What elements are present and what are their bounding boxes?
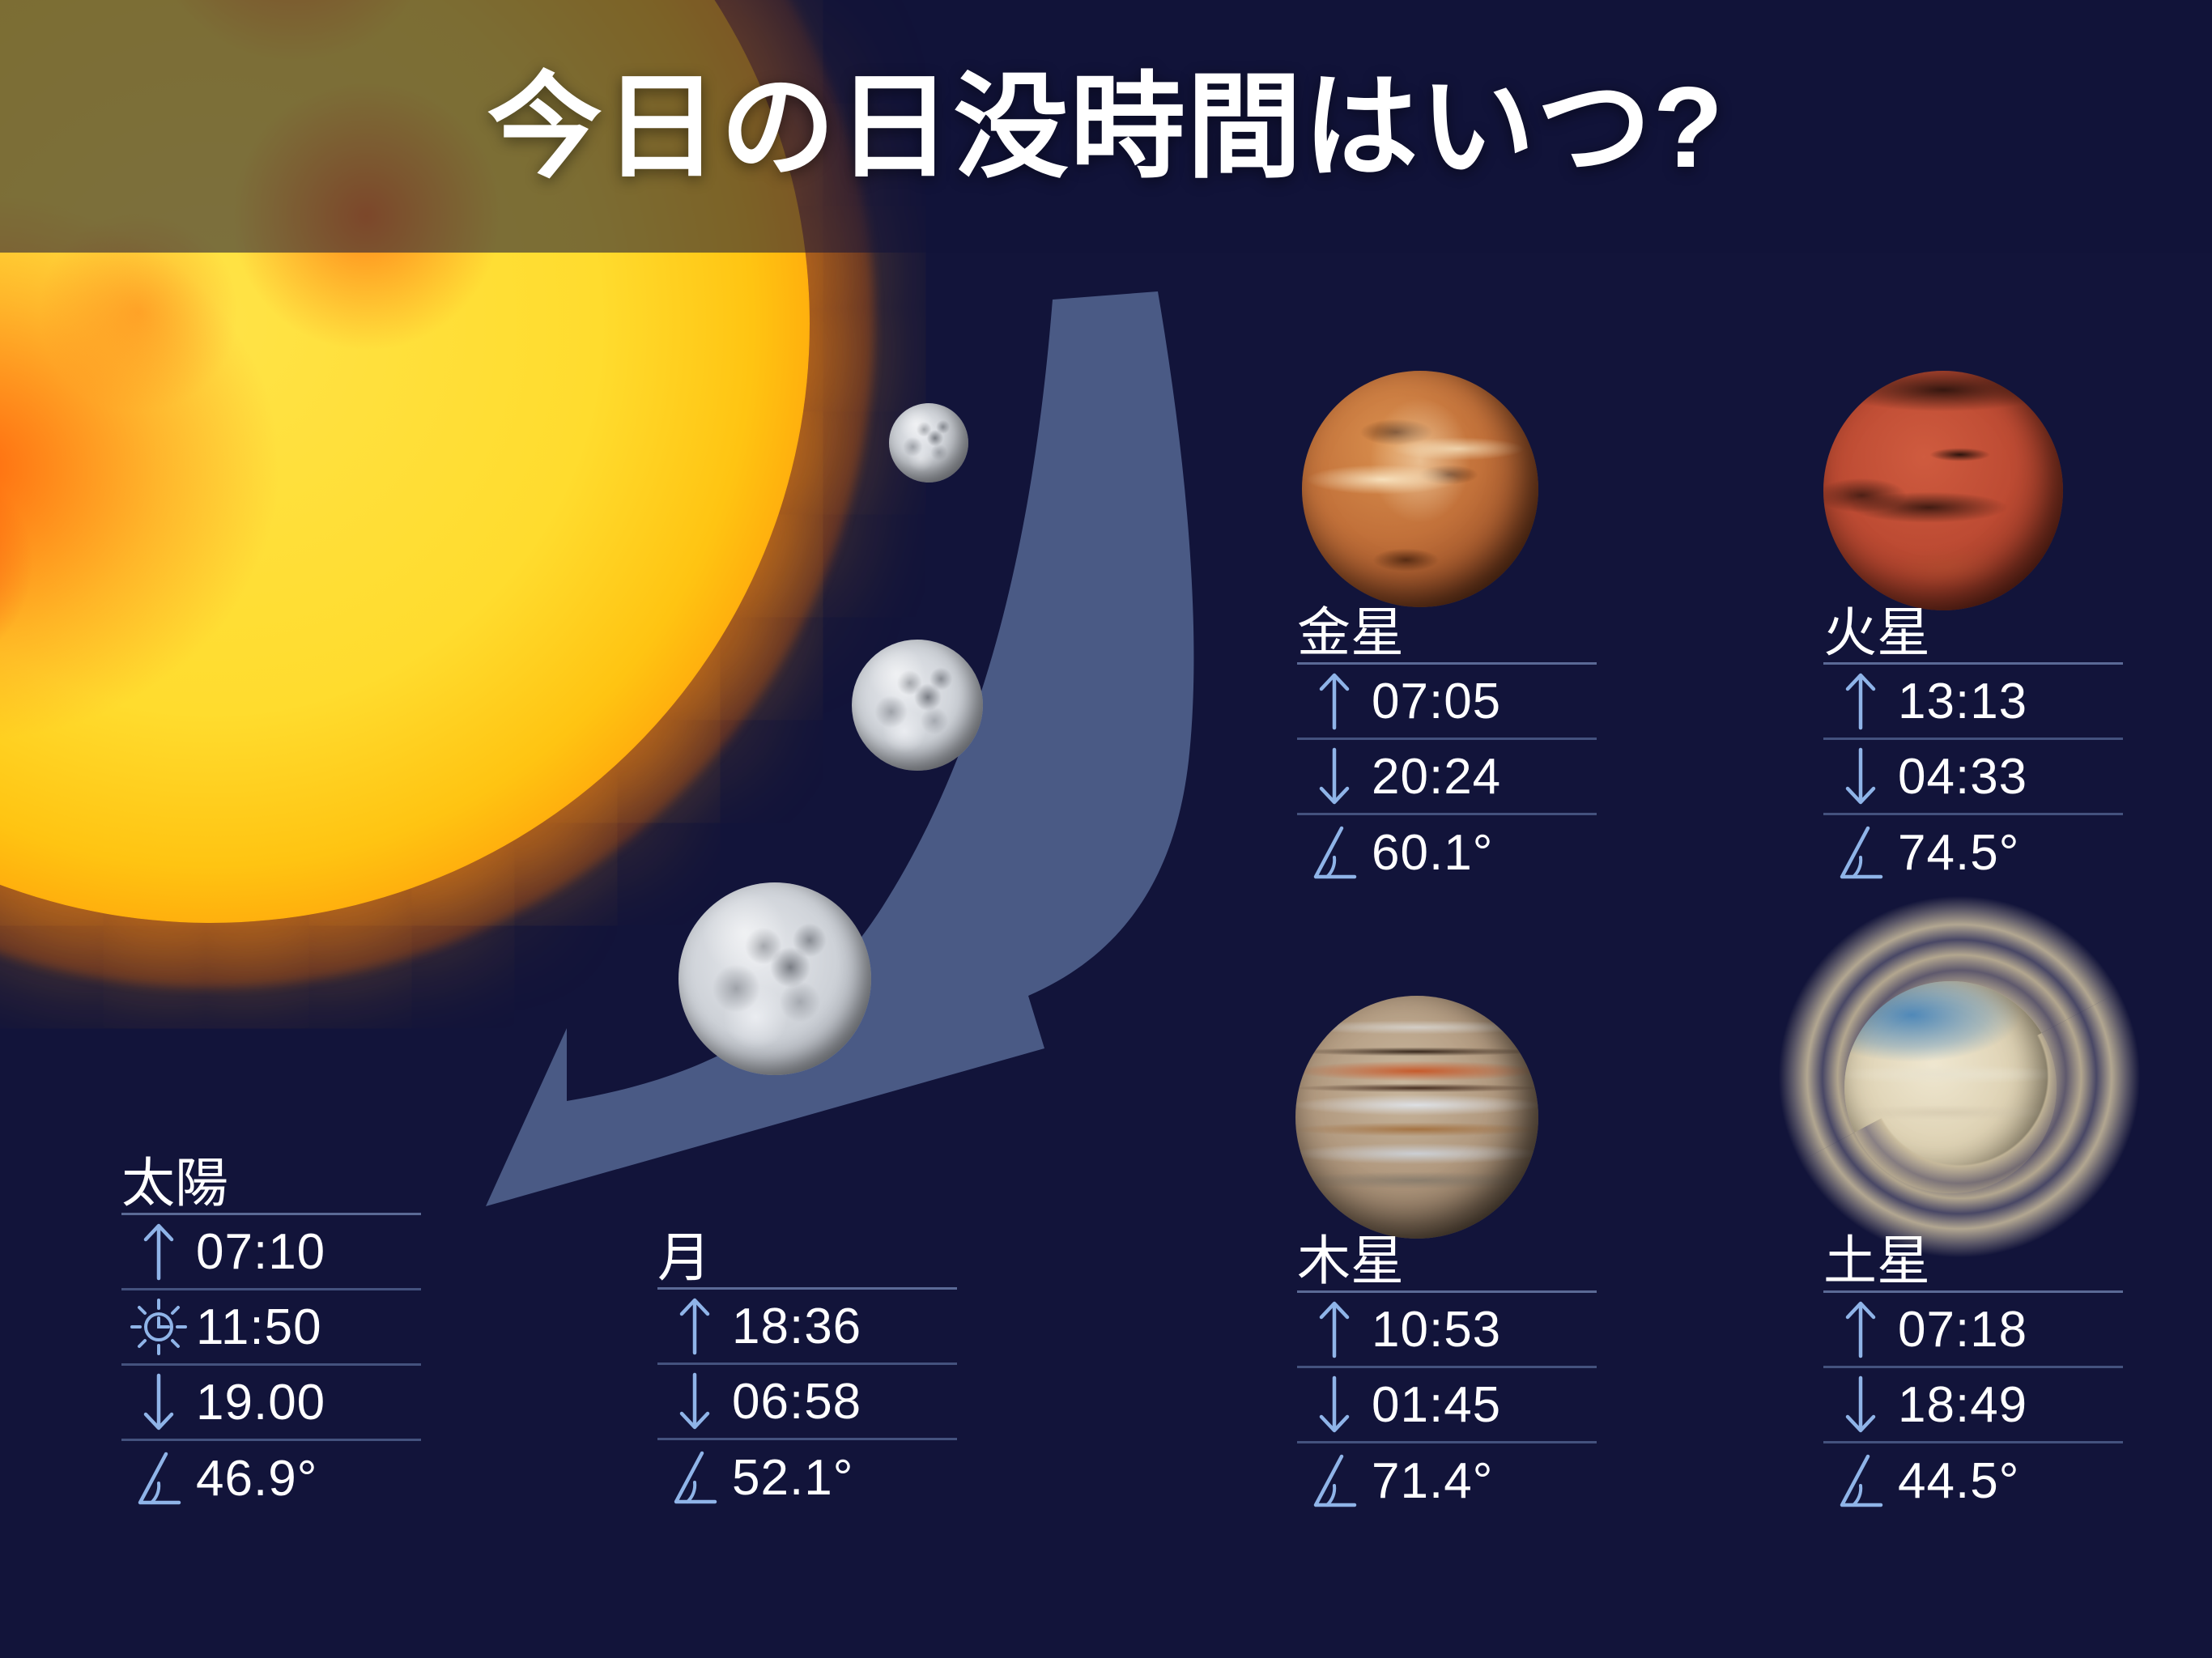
- jupiter-graphic: [1295, 996, 1538, 1239]
- angle-icon: [1297, 1452, 1372, 1511]
- angle-icon: [1823, 823, 1898, 883]
- body-panel-mars: 火星13:1304:3374.5°: [1823, 606, 2123, 891]
- angle-icon: [121, 1449, 196, 1509]
- arrow-up-icon: [1823, 1299, 1898, 1359]
- value-sun-noon: 11:50: [196, 1299, 322, 1356]
- value-jupiter-rise: 10:53: [1372, 1301, 1501, 1358]
- value-venus-altitude: 60.1°: [1372, 824, 1493, 882]
- value-moon-altitude: 52.1°: [732, 1449, 853, 1507]
- angle-icon: [657, 1448, 732, 1508]
- value-saturn-altitude: 44.5°: [1898, 1452, 2019, 1510]
- value-mars-altitude: 74.5°: [1898, 824, 2019, 882]
- sun-clock-icon: [121, 1297, 196, 1357]
- value-moon-rise: 18:36: [732, 1298, 861, 1355]
- value-venus-rise: 07:05: [1372, 673, 1501, 730]
- data-row-mars-set: 04:33: [1823, 740, 2123, 815]
- body-panel-venus: 金星07:0520:2460.1°: [1297, 606, 1597, 891]
- saturn-graphic: [1781, 915, 2138, 1239]
- arrow-up-icon: [1823, 671, 1898, 731]
- value-jupiter-set: 01:45: [1372, 1376, 1501, 1434]
- angle-icon: [1297, 823, 1372, 883]
- data-row-mars-altitude: 74.5°: [1823, 815, 2123, 891]
- arrow-down-icon: [657, 1371, 732, 1431]
- mars-graphic: [1823, 371, 2063, 610]
- arrow-down-icon: [1823, 1375, 1898, 1435]
- arrow-shape: [486, 291, 1193, 1206]
- data-row-sun-rise: 07:10: [121, 1215, 421, 1290]
- value-mars-set: 04:33: [1898, 748, 2027, 806]
- value-mars-rise: 13:13: [1898, 673, 2027, 730]
- arrow-up-icon: [121, 1222, 196, 1282]
- angle-icon: [1823, 1452, 1898, 1511]
- venus-graphic: [1302, 371, 1538, 607]
- panel-title-saturn: 土星: [1823, 1234, 2123, 1290]
- data-row-sun-altitude: 46.9°: [121, 1441, 421, 1516]
- arrow-down-icon: [121, 1372, 196, 1432]
- arrow-up-icon: [1297, 671, 1372, 731]
- value-saturn-rise: 07:18: [1898, 1301, 2027, 1358]
- arrow-down-icon: [1823, 746, 1898, 806]
- data-row-venus-set: 20:24: [1297, 740, 1597, 815]
- panel-title-sun: 太陽: [121, 1156, 421, 1213]
- panel-title-jupiter: 木星: [1297, 1234, 1597, 1290]
- value-sun-set: 19.00: [196, 1374, 325, 1431]
- infographic-canvas: 今日の日没時間はいつ? 太陽07:1011:5019.0046.9° 月18:3…: [0, 0, 2212, 1658]
- body-panel-saturn: 土星07:1818:4944.5°: [1823, 1234, 2123, 1519]
- body-panel-jupiter: 木星10:5301:4571.4°: [1297, 1234, 1597, 1519]
- data-row-jupiter-set: 01:45: [1297, 1368, 1597, 1443]
- panel-title-mars: 火星: [1823, 606, 2123, 662]
- data-row-venus-rise: 07:05: [1297, 665, 1597, 740]
- body-panel-moon: 月18:3606:5852.1°: [657, 1231, 957, 1516]
- data-row-moon-rise: 18:36: [657, 1290, 957, 1365]
- value-venus-set: 20:24: [1372, 748, 1501, 806]
- data-row-saturn-altitude: 44.5°: [1823, 1443, 2123, 1519]
- panel-title-venus: 金星: [1297, 606, 1597, 662]
- data-row-moon-set: 06:58: [657, 1365, 957, 1440]
- moon-graphic-large: [678, 882, 871, 1075]
- value-sun-altitude: 46.9°: [196, 1450, 317, 1507]
- value-saturn-set: 18:49: [1898, 1376, 2027, 1434]
- data-row-moon-altitude: 52.1°: [657, 1440, 957, 1516]
- panel-title-moon: 月: [657, 1231, 957, 1287]
- data-row-venus-altitude: 60.1°: [1297, 815, 1597, 891]
- body-panel-sun: 太陽07:1011:5019.0046.9°: [121, 1156, 421, 1516]
- data-row-mars-rise: 13:13: [1823, 665, 2123, 740]
- arrow-up-icon: [657, 1296, 732, 1356]
- value-sun-rise: 07:10: [196, 1223, 325, 1281]
- data-row-saturn-rise: 07:18: [1823, 1293, 2123, 1368]
- moon-graphic-medium: [852, 640, 983, 771]
- arrow-down-icon: [1297, 746, 1372, 806]
- data-row-jupiter-altitude: 71.4°: [1297, 1443, 1597, 1519]
- value-jupiter-altitude: 71.4°: [1372, 1452, 1493, 1510]
- arrow-up-icon: [1297, 1299, 1372, 1359]
- value-moon-set: 06:58: [732, 1373, 861, 1431]
- moon-graphic-small: [889, 403, 968, 483]
- data-row-sun-set: 19.00: [121, 1366, 421, 1441]
- arrow-down-icon: [1297, 1375, 1372, 1435]
- data-row-jupiter-rise: 10:53: [1297, 1293, 1597, 1368]
- data-row-saturn-set: 18:49: [1823, 1368, 2123, 1443]
- data-row-sun-noon: 11:50: [121, 1290, 421, 1366]
